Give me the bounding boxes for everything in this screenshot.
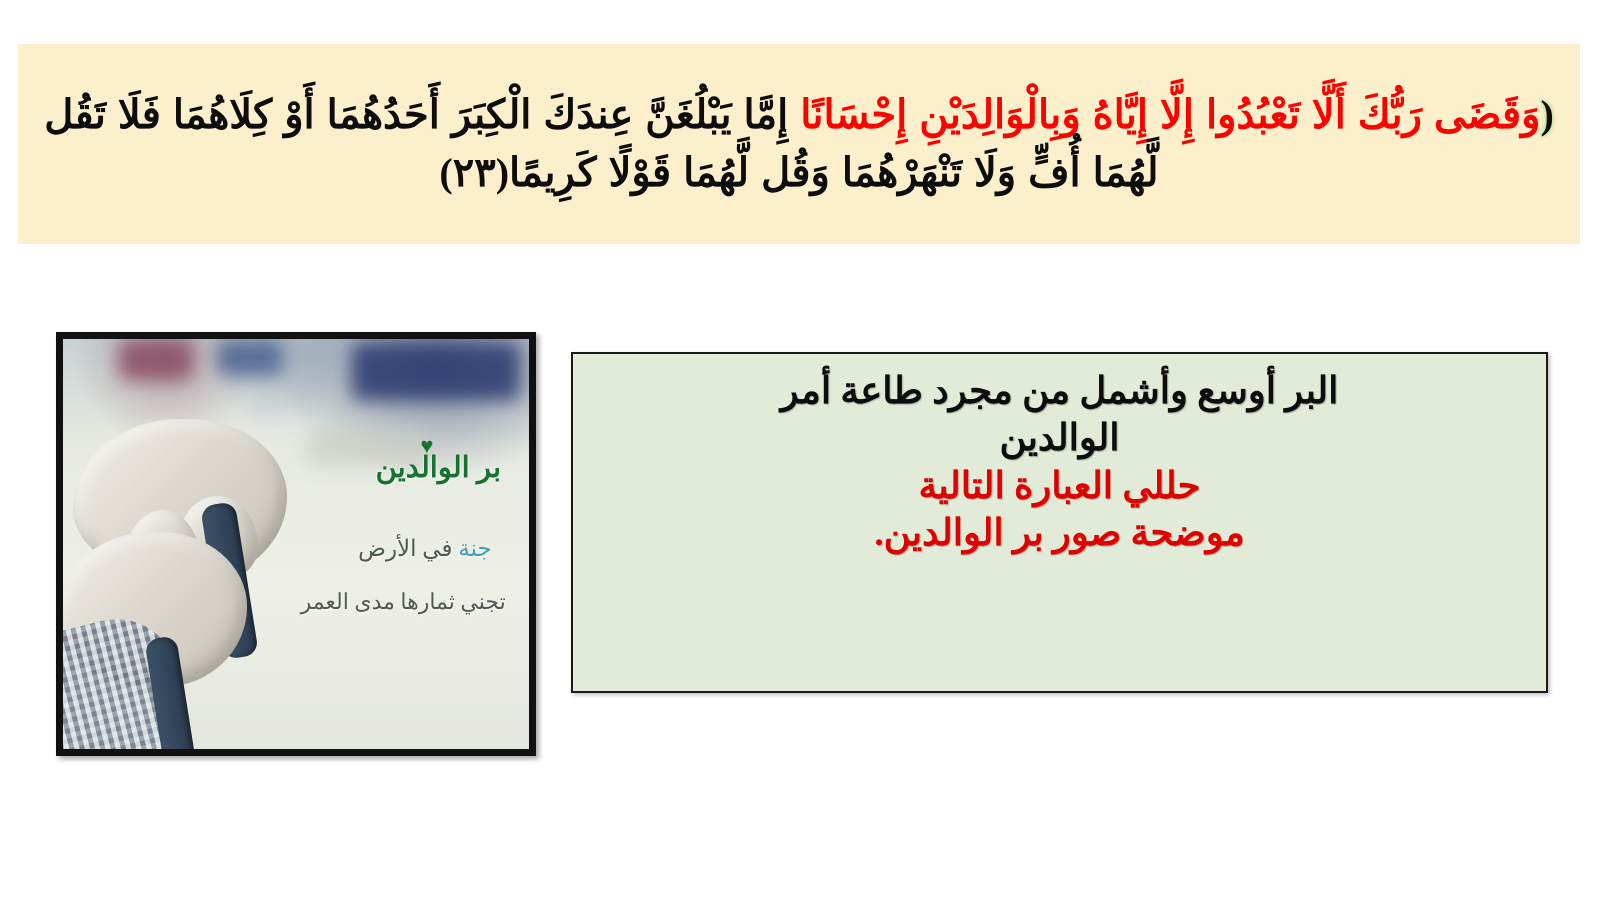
photo-canvas: ♥ بر الوالدين جنة في الأرض تجني ثمارها م… <box>63 339 529 749</box>
verse-number: (٢٣) <box>439 150 509 195</box>
quran-verse-text: (وَقَضَى رَبُّكَ أَلَّا تَعْبُدُوا إِلَّ… <box>32 86 1566 202</box>
photo-subtitle-two: تجني ثمارها مدى العمر <box>301 589 506 615</box>
photo-subtitle-one: جنة في الأرض <box>358 536 492 562</box>
photo-background-smudge <box>119 339 194 380</box>
parental-kindness-photo-frame: ♥ بر الوالدين جنة في الأرض تجني ثمارها م… <box>56 332 536 756</box>
photo-background-smudge <box>352 343 520 400</box>
photo-subtitle-one-rest: في الأرض <box>358 536 458 561</box>
statement-line-4: موضحة صور بر الوالدين. <box>599 510 1520 557</box>
holding-hands-illustration <box>56 405 333 756</box>
photo-title: بر الوالدين <box>376 450 501 485</box>
statement-line-3: حللي العبارة التالية <box>599 463 1520 510</box>
statement-task-box: البر أوسع وأشمل من مجرد طاعة أمر الوالدي… <box>571 352 1548 693</box>
photo-subtitle-one-highlight: جنة <box>458 536 492 561</box>
statement-line-2: الوالدين <box>599 415 1520 462</box>
quran-verse-banner: (وَقَضَى رَبُّكَ أَلَّا تَعْبُدُوا إِلَّ… <box>18 44 1580 244</box>
content-row: ♥ بر الوالدين جنة في الأرض تجني ثمارها م… <box>0 330 1600 770</box>
verse-open-bracket: ( <box>1540 92 1553 137</box>
photo-background-smudge <box>217 339 282 376</box>
verse-red-segment: وَقَضَى رَبُّكَ أَلَّا تَعْبُدُوا إِلَّا… <box>800 92 1540 137</box>
statement-line-1: البر أوسع وأشمل من مجرد طاعة أمر <box>599 368 1520 415</box>
